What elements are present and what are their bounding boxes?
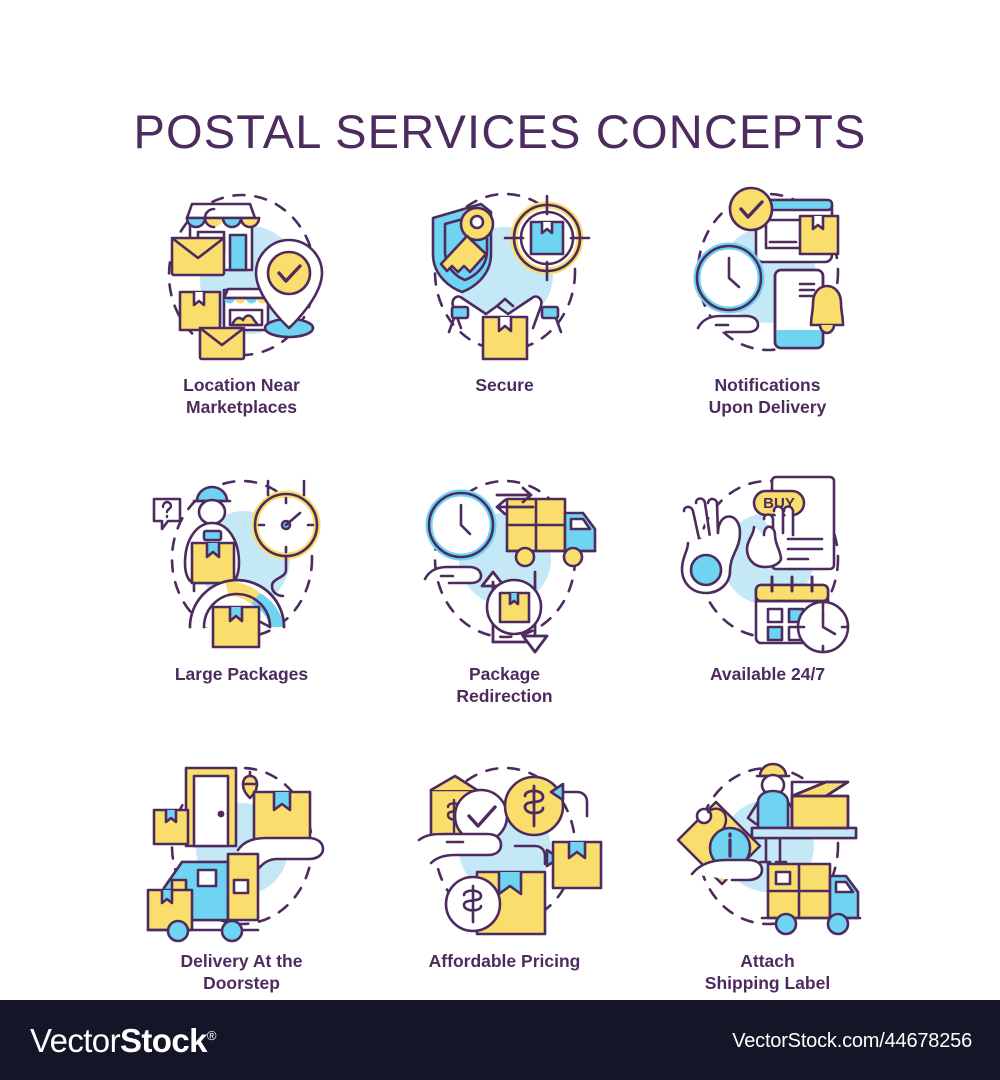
logo-light-part: Vector bbox=[30, 1022, 120, 1059]
icon-cell-notifications-upon-delivery[interactable]: Notifications Upon Delivery bbox=[636, 180, 899, 419]
icon-cell-affordable-pricing[interactable]: Affordable Pricing bbox=[373, 754, 636, 995]
icon-caption: Delivery At the Doorstep bbox=[181, 950, 303, 995]
illustration-package-redirection bbox=[405, 467, 605, 657]
icon-caption: Location Near Marketplaces bbox=[183, 374, 300, 419]
caption-line: Affordable Pricing bbox=[429, 950, 581, 972]
caption-line: Secure bbox=[475, 374, 533, 396]
icon-cell-secure[interactable]: Secure bbox=[373, 180, 636, 419]
icon-caption: Notifications Upon Delivery bbox=[709, 374, 827, 419]
icon-cell-available-24-7[interactable]: BUY bbox=[636, 467, 899, 708]
illustration-secure bbox=[405, 180, 605, 370]
vectorstock-url: VectorStock.com/44678256 bbox=[732, 1030, 972, 1053]
caption-line: Attach bbox=[705, 950, 830, 972]
illustration-attach-shipping-label bbox=[668, 754, 868, 944]
icon-row: Large Packages bbox=[110, 467, 900, 708]
icon-row: Location Near Marketplaces bbox=[110, 180, 900, 419]
caption-line: Location Near bbox=[183, 374, 300, 396]
artboard: POSTAL SERVICES CONCEPTS bbox=[0, 0, 1000, 1000]
icon-grid: Location Near Marketplaces bbox=[110, 180, 900, 994]
caption-line: Available 24/7 bbox=[710, 663, 825, 685]
page-title: POSTAL SERVICES CONCEPTS bbox=[0, 104, 1000, 159]
vectorstock-logo: VectorStock® bbox=[30, 1022, 216, 1060]
caption-line: Shipping Label bbox=[705, 972, 830, 994]
icon-cell-large-packages[interactable]: Large Packages bbox=[110, 467, 373, 708]
caption-line: Delivery At the bbox=[181, 950, 303, 972]
caption-line: Doorstep bbox=[181, 972, 303, 994]
caption-line: Notifications bbox=[709, 374, 827, 396]
icon-caption: Package Redirection bbox=[456, 663, 552, 708]
icon-caption: Secure bbox=[475, 374, 533, 396]
illustration-notifications-upon-delivery bbox=[668, 180, 868, 370]
icon-caption: Available 24/7 bbox=[710, 663, 825, 685]
illustration-large-packages bbox=[142, 467, 342, 657]
illustration-available-24-7: BUY bbox=[668, 467, 868, 657]
icon-row: Delivery At the Doorstep bbox=[110, 754, 900, 995]
icon-cell-attach-shipping-label[interactable]: Attach Shipping Label bbox=[636, 754, 899, 995]
icon-cell-delivery-at-the-doorstep[interactable]: Delivery At the Doorstep bbox=[110, 754, 373, 995]
icon-cell-location-near-marketplaces[interactable]: Location Near Marketplaces bbox=[110, 180, 373, 419]
registered-mark-icon: ® bbox=[207, 1028, 216, 1043]
logo-bold-part: Stock bbox=[120, 1022, 207, 1059]
icon-caption: Attach Shipping Label bbox=[705, 950, 830, 995]
icon-caption: Large Packages bbox=[175, 663, 308, 685]
icon-cell-package-redirection[interactable]: Package Redirection bbox=[373, 467, 636, 708]
illustration-delivery-at-the-doorstep bbox=[142, 754, 342, 944]
illustration-affordable-pricing bbox=[405, 754, 605, 944]
caption-line: Large Packages bbox=[175, 663, 308, 685]
caption-line: Package bbox=[456, 663, 552, 685]
caption-line: Redirection bbox=[456, 685, 552, 707]
illustration-location-near-marketplaces bbox=[142, 180, 342, 370]
caption-line: Marketplaces bbox=[183, 396, 300, 418]
icon-caption: Affordable Pricing bbox=[429, 950, 581, 972]
caption-line: Upon Delivery bbox=[709, 396, 827, 418]
